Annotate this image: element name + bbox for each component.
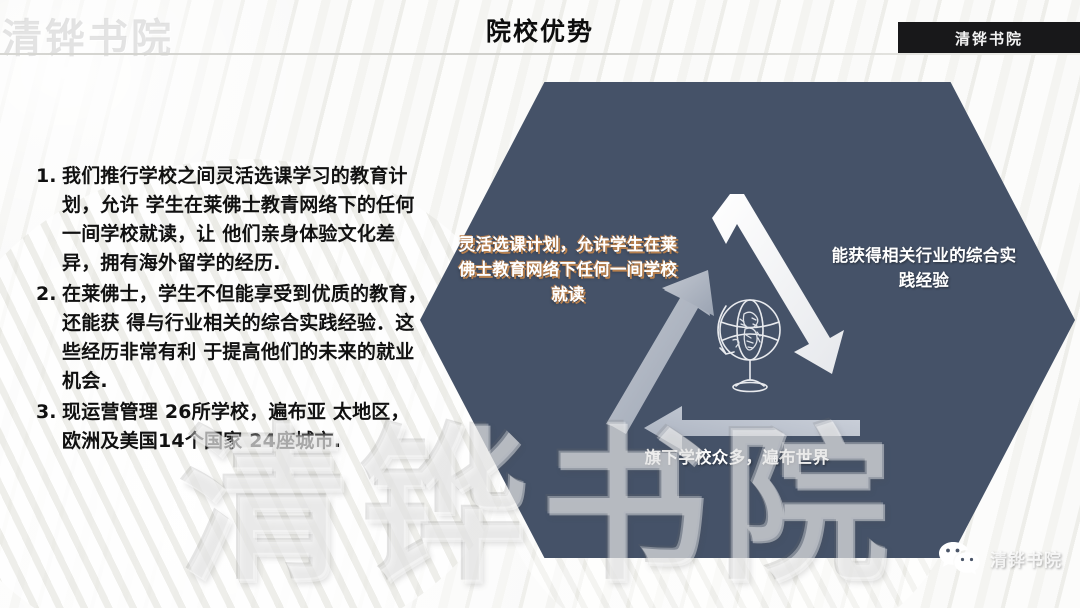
slide-canvas: 清铧书院 院校优势 清铧书院 1. 我们推行学校之间灵活选课学习的教育计划，允许… <box>0 0 1080 608</box>
header-divider <box>0 53 1080 55</box>
list-item-number: 3. <box>28 398 62 427</box>
brand-badge: 清铧书院 <box>898 22 1080 54</box>
list-item-number: 2. <box>28 280 62 309</box>
brand-badge-label: 清铧书院 <box>955 28 1023 49</box>
globe-icon <box>700 288 796 396</box>
wechat-label: 清铧书院 <box>990 546 1062 571</box>
list-item-text: 在莱佛士，学生不但能享受到优质的教育，还能获 得与行业相关的综合实践经验．这些经… <box>62 280 428 396</box>
list-item: 1. 我们推行学校之间灵活选课学习的教育计划，允许 学生在莱佛士教青网络下的任何… <box>28 162 428 278</box>
list-item-number: 1. <box>28 162 62 191</box>
bullet-list: 1. 我们推行学校之间灵活选课学习的教育计划，允许 学生在莱佛士教青网络下的任何… <box>28 162 428 458</box>
wechat-icon <box>938 540 982 576</box>
list-item: 3. 现运营管理 26所学校，遍布亚 太地区，欧洲及美国14个国家 24座城市. <box>28 398 428 456</box>
arrow-bottom <box>644 406 860 450</box>
diagram-label-bottom: 旗下学校众多，遍布世界 <box>632 445 842 470</box>
wechat-watermark: 清铧书院 <box>938 540 1062 576</box>
diagram-label-top-left: 灵活选课计划，允许学生在莱佛士教育网络下任何一间学校就读 <box>452 232 684 307</box>
list-item-text: 现运营管理 26所学校，遍布亚 太地区，欧洲及美国14个国家 24座城市. <box>62 398 428 456</box>
list-item: 2. 在莱佛士，学生不但能享受到优质的教育，还能获 得与行业相关的综合实践经验．… <box>28 280 428 396</box>
list-item-text: 我们推行学校之间灵活选课学习的教育计划，允许 学生在莱佛士教青网络下的任何一间学… <box>62 162 428 278</box>
diagram-label-top-right: 能获得相关行业的综合实践经验 <box>824 243 1024 293</box>
slide-header: 院校优势 清铧书院 <box>0 0 1080 54</box>
